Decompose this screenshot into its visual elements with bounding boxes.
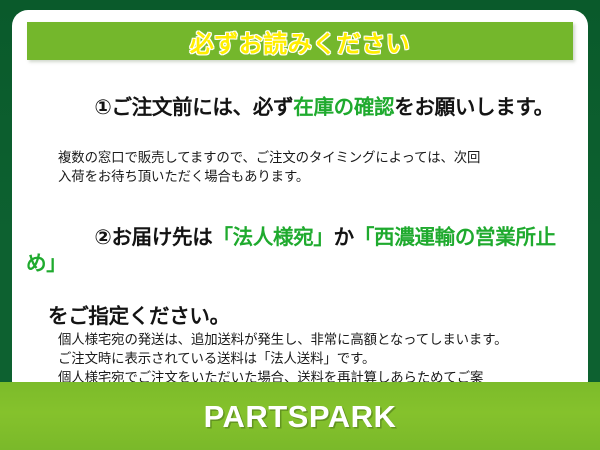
notice-item-2-heading: ②お届け先は「法人様宛」か「西濃運輸の営業所止め」	[26, 198, 574, 303]
notice-item-1: ①ご注文前には、必ず在庫の確認をお願いします。 複数の窓口で販売してますので、ご…	[26, 68, 574, 187]
notice-item-2-highlight-1: 「法人様宛」	[212, 225, 333, 249]
notice-item-1-heading-part-1: ご注文前には、必ず	[111, 95, 293, 119]
notice-item-2: ②お届け先は「法人様宛」か「西濃運輸の営業所止め」 をご指定ください。 個人様宅…	[26, 198, 574, 397]
notice-item-1-detail: 複数の窓口で販売してますので、ご注文のタイミングによっては、次回 入荷をお待ち頂…	[26, 149, 574, 187]
notice-item-2-heading-continuation: をご指定ください。	[26, 303, 574, 329]
notice-item-1-highlight: 在庫の確認	[293, 95, 394, 119]
notice-item-1-detail-line-2: 入荷をお待ち頂いただく場合もあります。	[58, 168, 574, 187]
notice-item-1-heading: ①ご注文前には、必ず在庫の確認をお願いします。	[26, 68, 574, 147]
notice-item-2-marker: ②	[94, 225, 111, 249]
notice-item-1-detail-line-1: 複数の窓口で販売してますので、ご注文のタイミングによっては、次回	[58, 149, 574, 168]
notice-item-2-detail-line-1: 個人様宅宛の発送は、追加送料が発生し、非常に高額となってしまいます。	[58, 331, 574, 350]
notice-items-list: ①ご注文前には、必ず在庫の確認をお願いします。 複数の窓口で販売してますので、ご…	[12, 68, 588, 397]
brand-footer-strip: PARTSPARK	[0, 382, 600, 450]
partspark-logo-text: PARTSPARK	[204, 399, 397, 435]
notice-item-1-marker: ①	[94, 95, 111, 119]
notice-item-1-heading-part-3: をお願いします。	[394, 95, 554, 119]
notice-header-title: 必ずお読みください	[190, 24, 411, 59]
notice-item-2-heading-part-1: お届け先は	[111, 225, 212, 249]
notice-banner: 必ずお読みください ①ご注文前には、必ず在庫の確認をお願いします。 複数の窓口で…	[0, 0, 600, 450]
notice-item-2-detail-line-2: ご注文時に表示されている送料は「法人送料」です。	[58, 350, 574, 369]
notice-card: 必ずお読みください ①ご注文前には、必ず在庫の確認をお願いします。 複数の窓口で…	[12, 10, 588, 397]
notice-item-2-heading-part-3: か	[334, 225, 354, 249]
notice-header-band: 必ずお読みください	[27, 22, 573, 60]
